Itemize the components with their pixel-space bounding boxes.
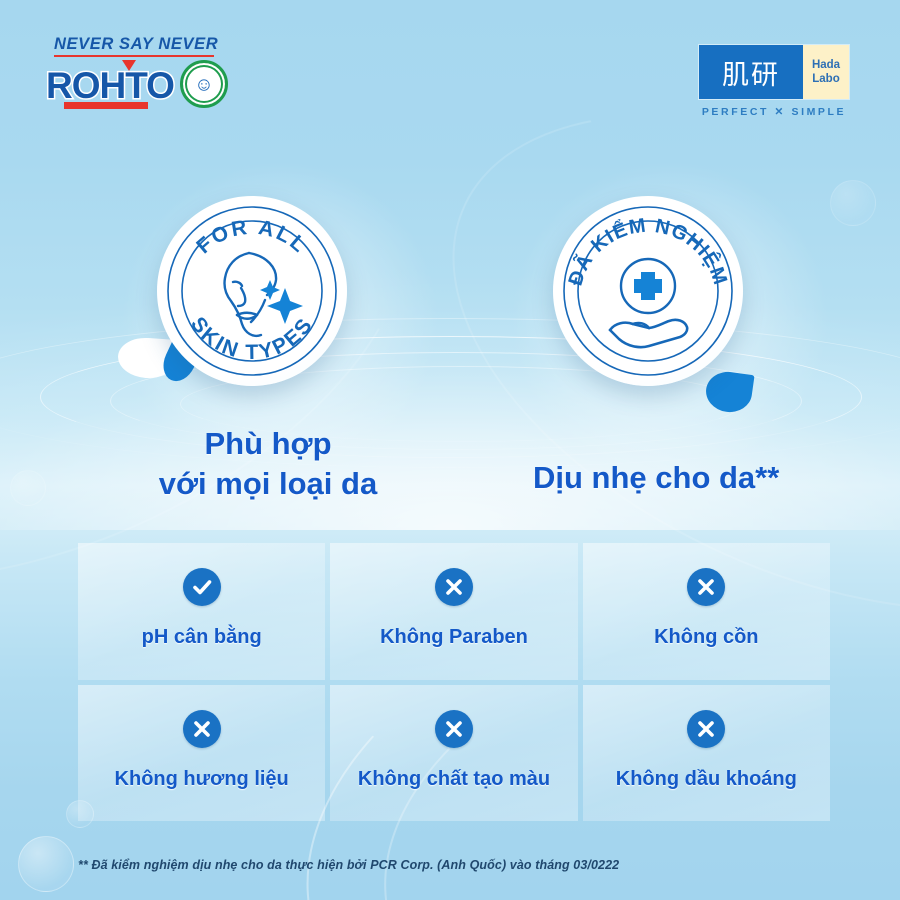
hada-labo-name-line1: Hada — [812, 58, 840, 72]
infographic-page: NEVER SAY NEVER ROHTO ☺ 肌研 Hada Labo PER… — [0, 0, 900, 900]
feature-cell-khong-huong-lieu: Không hương liệu — [78, 685, 325, 822]
feature-cell-khong-chat-tao-mau: Không chất tạo màu — [330, 685, 577, 822]
check-circle-icon — [183, 568, 221, 606]
feature-label: Không cồn — [654, 626, 758, 648]
mascot-figure-icon: ☺ — [194, 75, 213, 94]
x-circle-icon — [435, 710, 473, 748]
x-circle-icon — [435, 568, 473, 606]
feature-cell-khong-dau-khoang: Không dầu khoáng — [583, 685, 830, 822]
x-circle-icon — [687, 568, 725, 606]
feature-cell-khong-paraben: Không Paraben — [330, 543, 577, 680]
rohto-tagline-rule — [54, 55, 214, 58]
feature-cell-ph-can-bang: pH cân bằng — [78, 543, 325, 680]
rohto-logo: NEVER SAY NEVER ROHTO ☺ — [46, 36, 266, 124]
rohto-wordmark-row: ROHTO ☺ — [46, 60, 266, 110]
rohto-red-bar — [64, 102, 148, 109]
badge-da-kiem-nghiem: ĐÃ KIỂM NGHIỆM — [553, 196, 743, 386]
badge-for-all-skin-types: FOR ALL SKIN TYPES — [157, 196, 347, 386]
feature-cell-khong-con: Không cồn — [583, 543, 830, 680]
hada-labo-name: Hada Labo — [803, 45, 849, 99]
badge-caption-for-all-skin-types: Phù hợp với mọi loại da — [158, 424, 378, 503]
hada-labo-name-line2: Labo — [812, 72, 839, 86]
rohto-mascot-seal-icon: ☺ — [180, 60, 228, 108]
footnote: ** Đã kiểm nghiệm dịu nhẹ cho da thực hi… — [78, 858, 619, 872]
hada-labo-tagline: PERFECT ✕ SIMPLE — [698, 106, 850, 118]
feature-label: Không hương liệu — [115, 768, 289, 790]
hada-labo-logo-box: 肌研 Hada Labo — [698, 44, 850, 100]
bubble — [18, 836, 74, 892]
feature-grid: pH cân bằng Không Paraben Không cồn Khôn… — [78, 543, 830, 821]
x-circle-icon — [687, 710, 725, 748]
feature-label: Không chất tạo màu — [358, 768, 550, 790]
feature-label: Không Paraben — [380, 626, 528, 648]
rohto-tagline: NEVER SAY NEVER — [54, 36, 230, 53]
badge-caption-da-kiem-nghiem: Dịu nhẹ cho da** — [533, 458, 793, 498]
hada-labo-kanji: 肌研 — [699, 45, 803, 99]
feature-label: pH cân bằng — [142, 626, 262, 648]
bubble — [830, 180, 876, 226]
svg-text:FOR ALL: FOR ALL — [192, 216, 311, 259]
feature-label: Không dầu khoáng — [616, 768, 797, 790]
x-circle-icon — [183, 710, 221, 748]
rohto-tagline-block: NEVER SAY NEVER — [54, 36, 230, 57]
rohto-wordmark: ROHTO — [46, 67, 174, 104]
hada-labo-logo: 肌研 Hada Labo PERFECT ✕ SIMPLE — [698, 44, 850, 118]
bubble — [10, 470, 46, 506]
